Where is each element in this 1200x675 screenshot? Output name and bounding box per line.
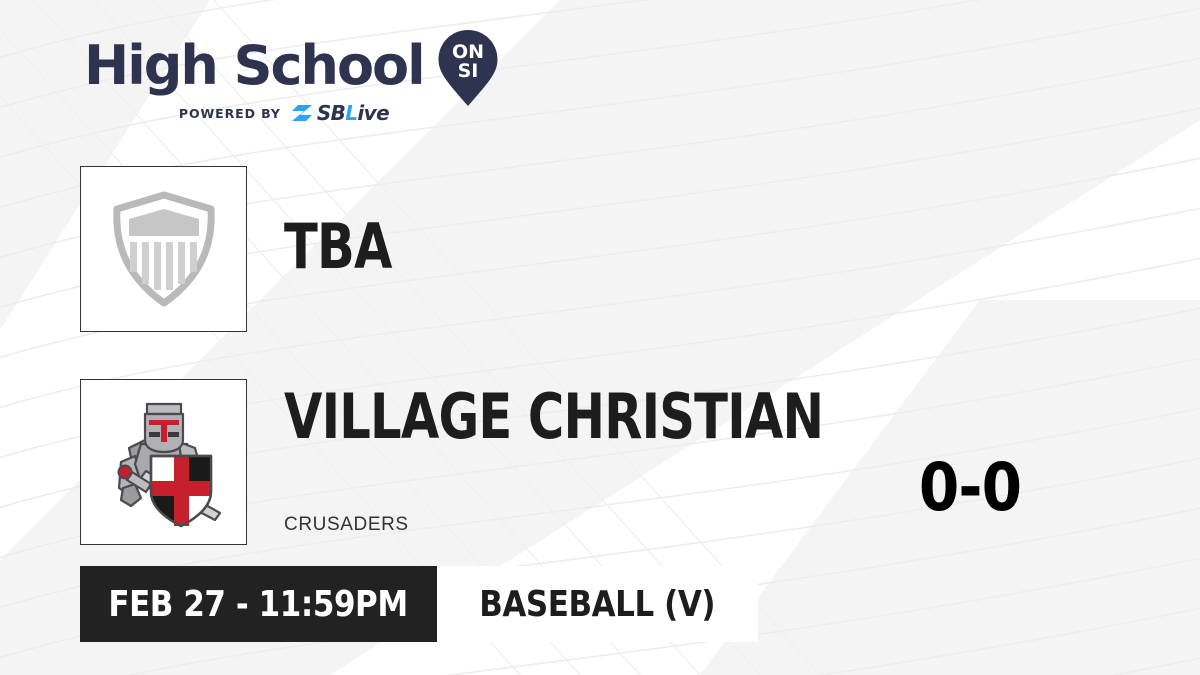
- score-display: 0-0: [873, 455, 1067, 521]
- powered-by-label: POWERED BY: [179, 106, 281, 121]
- sblive-ive: ive: [357, 101, 389, 125]
- away-team-logo-box[interactable]: [80, 166, 247, 332]
- site-branding: High School ON SI POWERED BY SBLive: [84, 34, 514, 123]
- home-team-mascot: CRUSADERS: [284, 514, 958, 536]
- crusader-knight-icon: [99, 392, 229, 532]
- sblive-logo: SBLive: [290, 101, 389, 125]
- placeholder-shield-icon: [109, 189, 219, 309]
- game-scorecard: High School ON SI POWERED BY SBLive: [0, 0, 1200, 675]
- home-team-name: VILLAGE CHRISTIAN: [284, 386, 823, 448]
- away-team-row[interactable]: TBA: [80, 166, 419, 332]
- brand-logo-row: High School ON SI: [84, 34, 514, 98]
- away-team-text: TBA: [284, 166, 419, 278]
- sblive-sb: SB: [317, 101, 345, 125]
- sblive-wordmark: SBLive: [317, 101, 389, 125]
- pin-label-si: SI: [457, 60, 478, 82]
- away-team-name: TBA: [284, 216, 392, 278]
- home-team-text: VILLAGE CHRISTIAN CRUSADERS: [284, 379, 958, 536]
- home-team-row[interactable]: VILLAGE CHRISTIAN CRUSADERS: [80, 379, 958, 545]
- powered-by-row: POWERED BY SBLive: [84, 103, 484, 123]
- sblive-bolt-icon: [290, 103, 314, 123]
- sblive-l: L: [345, 101, 357, 125]
- brand-wordmark: High School: [84, 39, 424, 93]
- game-datetime: FEB 27 - 11:59PM: [80, 566, 437, 642]
- game-info-bar: FEB 27 - 11:59PM BASEBALL (V): [80, 566, 758, 642]
- game-sport: BASEBALL (V): [437, 566, 758, 642]
- game-sport-label: BASEBALL (V): [480, 584, 716, 625]
- game-datetime-label: FEB 27 - 11:59PM: [109, 584, 408, 625]
- home-team-logo-box[interactable]: [80, 379, 247, 545]
- on-si-pin-icon: ON SI: [436, 29, 500, 107]
